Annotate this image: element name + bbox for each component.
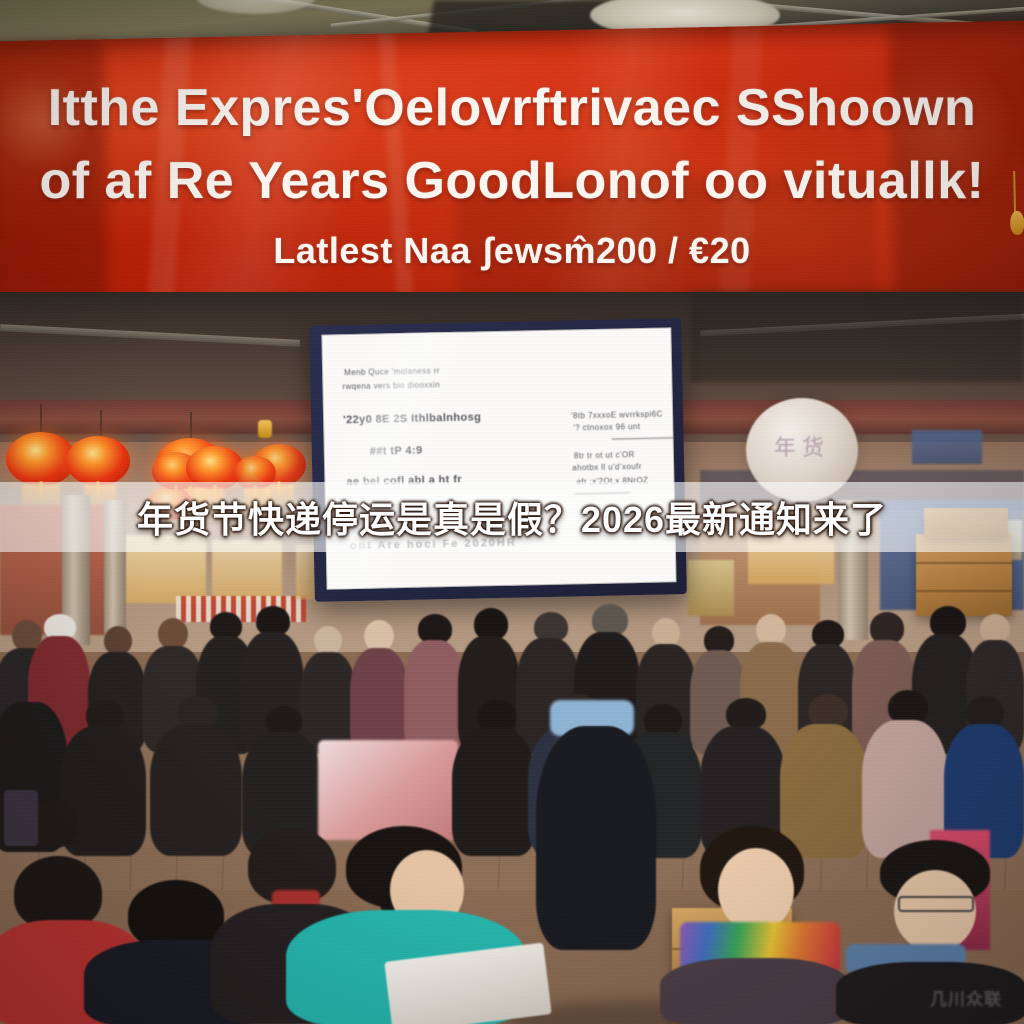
banner-line-2: of af Re Years GoodLonof oo vituallk! bbox=[0, 151, 1024, 211]
tv-side-text: ahotbx ll u'd’xoufr bbox=[572, 462, 642, 472]
tv-rule bbox=[612, 437, 674, 439]
market-stall bbox=[688, 560, 734, 616]
person bbox=[536, 700, 656, 950]
tv-side-text: 8tr tr ot ut c'OR bbox=[574, 450, 635, 460]
person bbox=[350, 620, 408, 754]
corner-watermark: 几川众联 bbox=[930, 985, 1002, 1010]
lantern-stalk bbox=[100, 410, 102, 436]
hall-beam bbox=[0, 324, 300, 347]
banner-line-1: Itthe Expres'Oelovrftrivaec SShoown bbox=[0, 78, 1024, 138]
mobile-phone bbox=[4, 790, 38, 846]
hall-ceiling-dark bbox=[690, 292, 1024, 382]
article-hero-image: Itthe Expres'Oelovrftrivaec SShoown of a… bbox=[0, 0, 1024, 1024]
article-headline-overlay: 年货节快递停运是真是假？2026最新通知来了 bbox=[0, 482, 1024, 552]
gold-ornament bbox=[258, 420, 272, 438]
banner-line-3: Latlest Naa ʃewsm̂200 / €20 bbox=[0, 230, 1024, 272]
eyeglasses bbox=[898, 896, 974, 912]
banner-text-group: Itthe Expres'Oelovrftrivaec SShoown of a… bbox=[0, 0, 1024, 300]
patterned-bag bbox=[318, 740, 458, 840]
blue-wall-panel bbox=[912, 430, 982, 464]
tv-side-text: '8tb 7xxxoE wvrrkspi6C bbox=[571, 410, 663, 421]
tv-side-text: '? ctnoxox 96 unt bbox=[573, 422, 640, 432]
wall-mounted-tv-screen: Menb Quce 'molaness rr rwqena vers bio d… bbox=[309, 318, 687, 602]
lantern-stalk bbox=[40, 404, 42, 434]
paper-lantern-glyphs: 年货 bbox=[774, 430, 830, 462]
lantern-stalk bbox=[190, 412, 192, 440]
person bbox=[660, 826, 850, 1024]
red-lantern bbox=[66, 436, 130, 486]
